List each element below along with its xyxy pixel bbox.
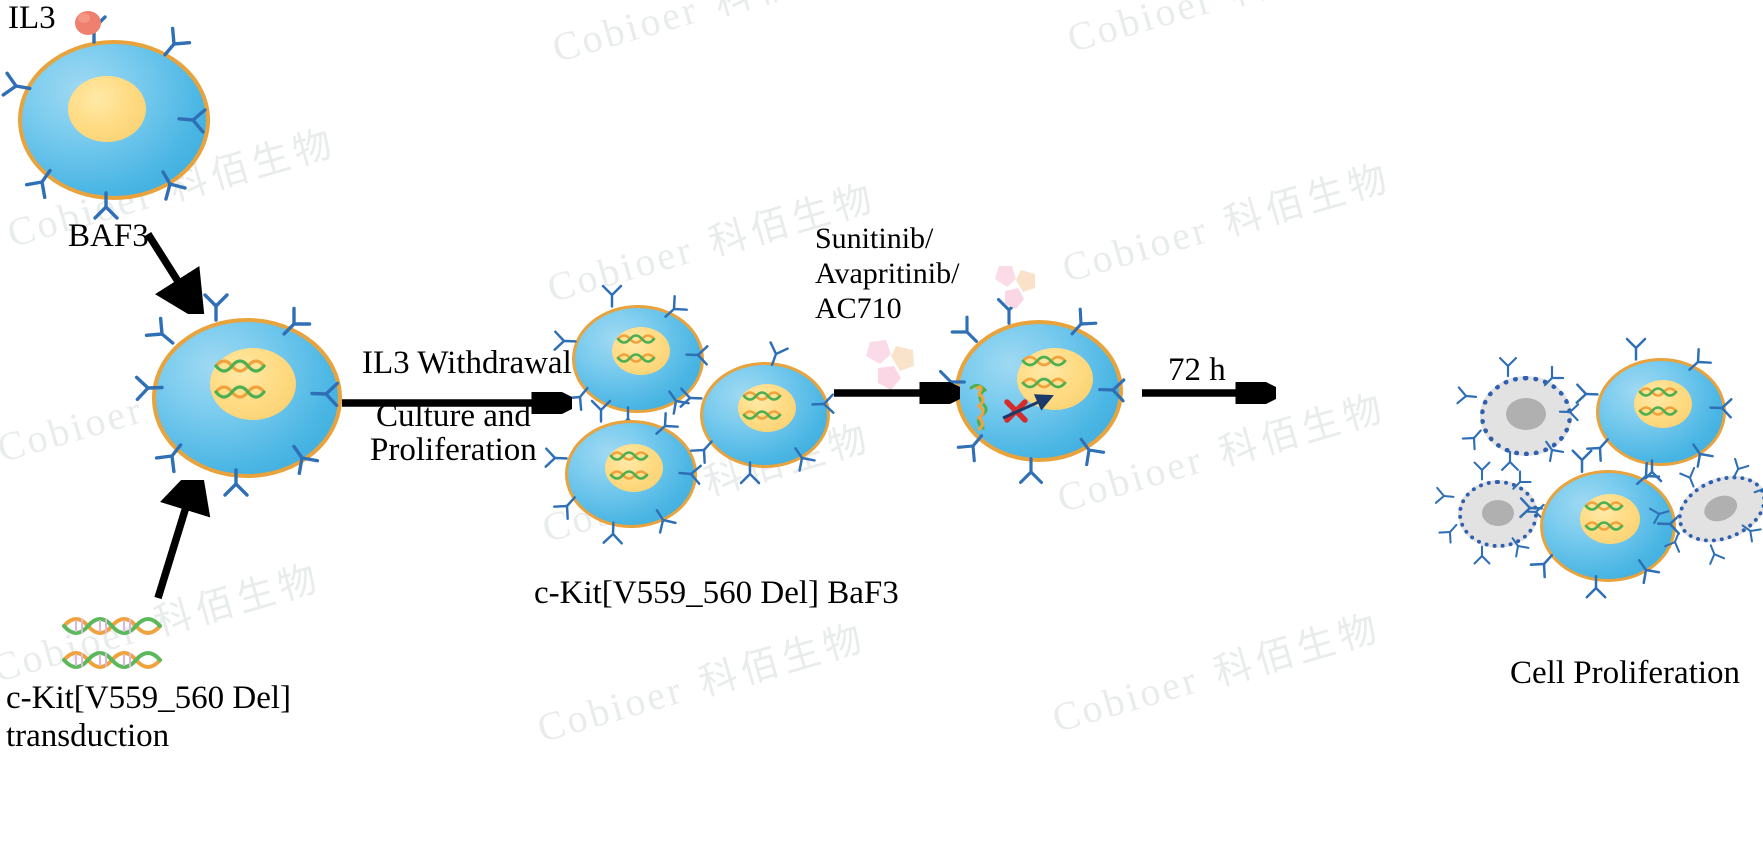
dna-construct-icon — [60, 612, 172, 674]
il3-ligand-icon — [70, 6, 106, 40]
apoptotic-cell-right — [1668, 463, 1763, 555]
receptor-group-icon — [678, 340, 854, 492]
receptor-group-icon — [931, 296, 1151, 490]
baf3-parental-cell — [18, 40, 210, 200]
receptor-group-icon — [0, 12, 240, 230]
transduction-label-line2: transduction — [6, 718, 169, 755]
watermark-latin: Cobioer — [1057, 206, 1213, 291]
il3-label: IL3 — [8, 0, 56, 37]
receptor-group-icon — [124, 290, 372, 508]
apoptotic-cell-upper — [1480, 376, 1572, 456]
arrow-dna-to-cell — [140, 480, 222, 610]
outcome-label: Cell Proliferation — [1510, 655, 1740, 692]
cluster-label: c-Kit[V559_560 Del] BaF3 — [534, 575, 899, 612]
watermark-cn: 科佰生物 — [1209, 607, 1386, 695]
arrow-baf3-to-transduced — [140, 228, 220, 314]
watermark-latin: Cobioer — [547, 0, 703, 71]
drug-label-line1: Sunitinib/ — [815, 222, 933, 256]
step1-label-line3: Proliferation — [370, 432, 537, 469]
watermark-tile: Cobioer科佰生物 — [545, 0, 887, 73]
drug-label-line3: AC710 — [815, 292, 902, 326]
watermark-cn: 科佰生物 — [1219, 157, 1396, 245]
transduced-cell — [152, 318, 342, 478]
watermark-tile: Cobioer科佰生物 — [1045, 596, 1387, 743]
watermark-tile: Cobioer科佰生物 — [530, 606, 872, 753]
watermark-latin: Cobioer — [1047, 656, 1203, 741]
watermark-cn: 科佰生物 — [1224, 0, 1401, 15]
watermark-cn: 科佰生物 — [709, 0, 886, 25]
diagram-canvas: Cobioer科佰生物 Cobioer科佰生物 Cobioer科佰生物 Cobi… — [0, 0, 1763, 848]
cluster-cell-right — [700, 362, 830, 468]
step1-label-line1: IL3 Withdrawal — [362, 345, 572, 382]
watermark-latin: Cobioer — [532, 666, 688, 751]
watermark-tile: Cobioer科佰生物 — [1055, 146, 1397, 293]
baf3-label: BAF3 — [68, 218, 149, 255]
step1-label-line2: Culture and — [376, 398, 531, 435]
arrow-to-drug-treated-cell — [832, 382, 960, 404]
drug-molecule-icon — [985, 264, 1045, 320]
drug-treated-cell — [955, 320, 1123, 462]
watermark-tile: Cobioer科佰生物 — [1060, 0, 1402, 63]
duration-label: 72 h — [1168, 352, 1226, 389]
watermark-cn: 科佰生物 — [694, 617, 871, 705]
watermark-latin: Cobioer — [1062, 0, 1218, 61]
transduction-label-line1: c-Kit[V559_560 Del] — [6, 680, 291, 717]
drug-label-line2: Avapritinib/ — [815, 257, 959, 291]
